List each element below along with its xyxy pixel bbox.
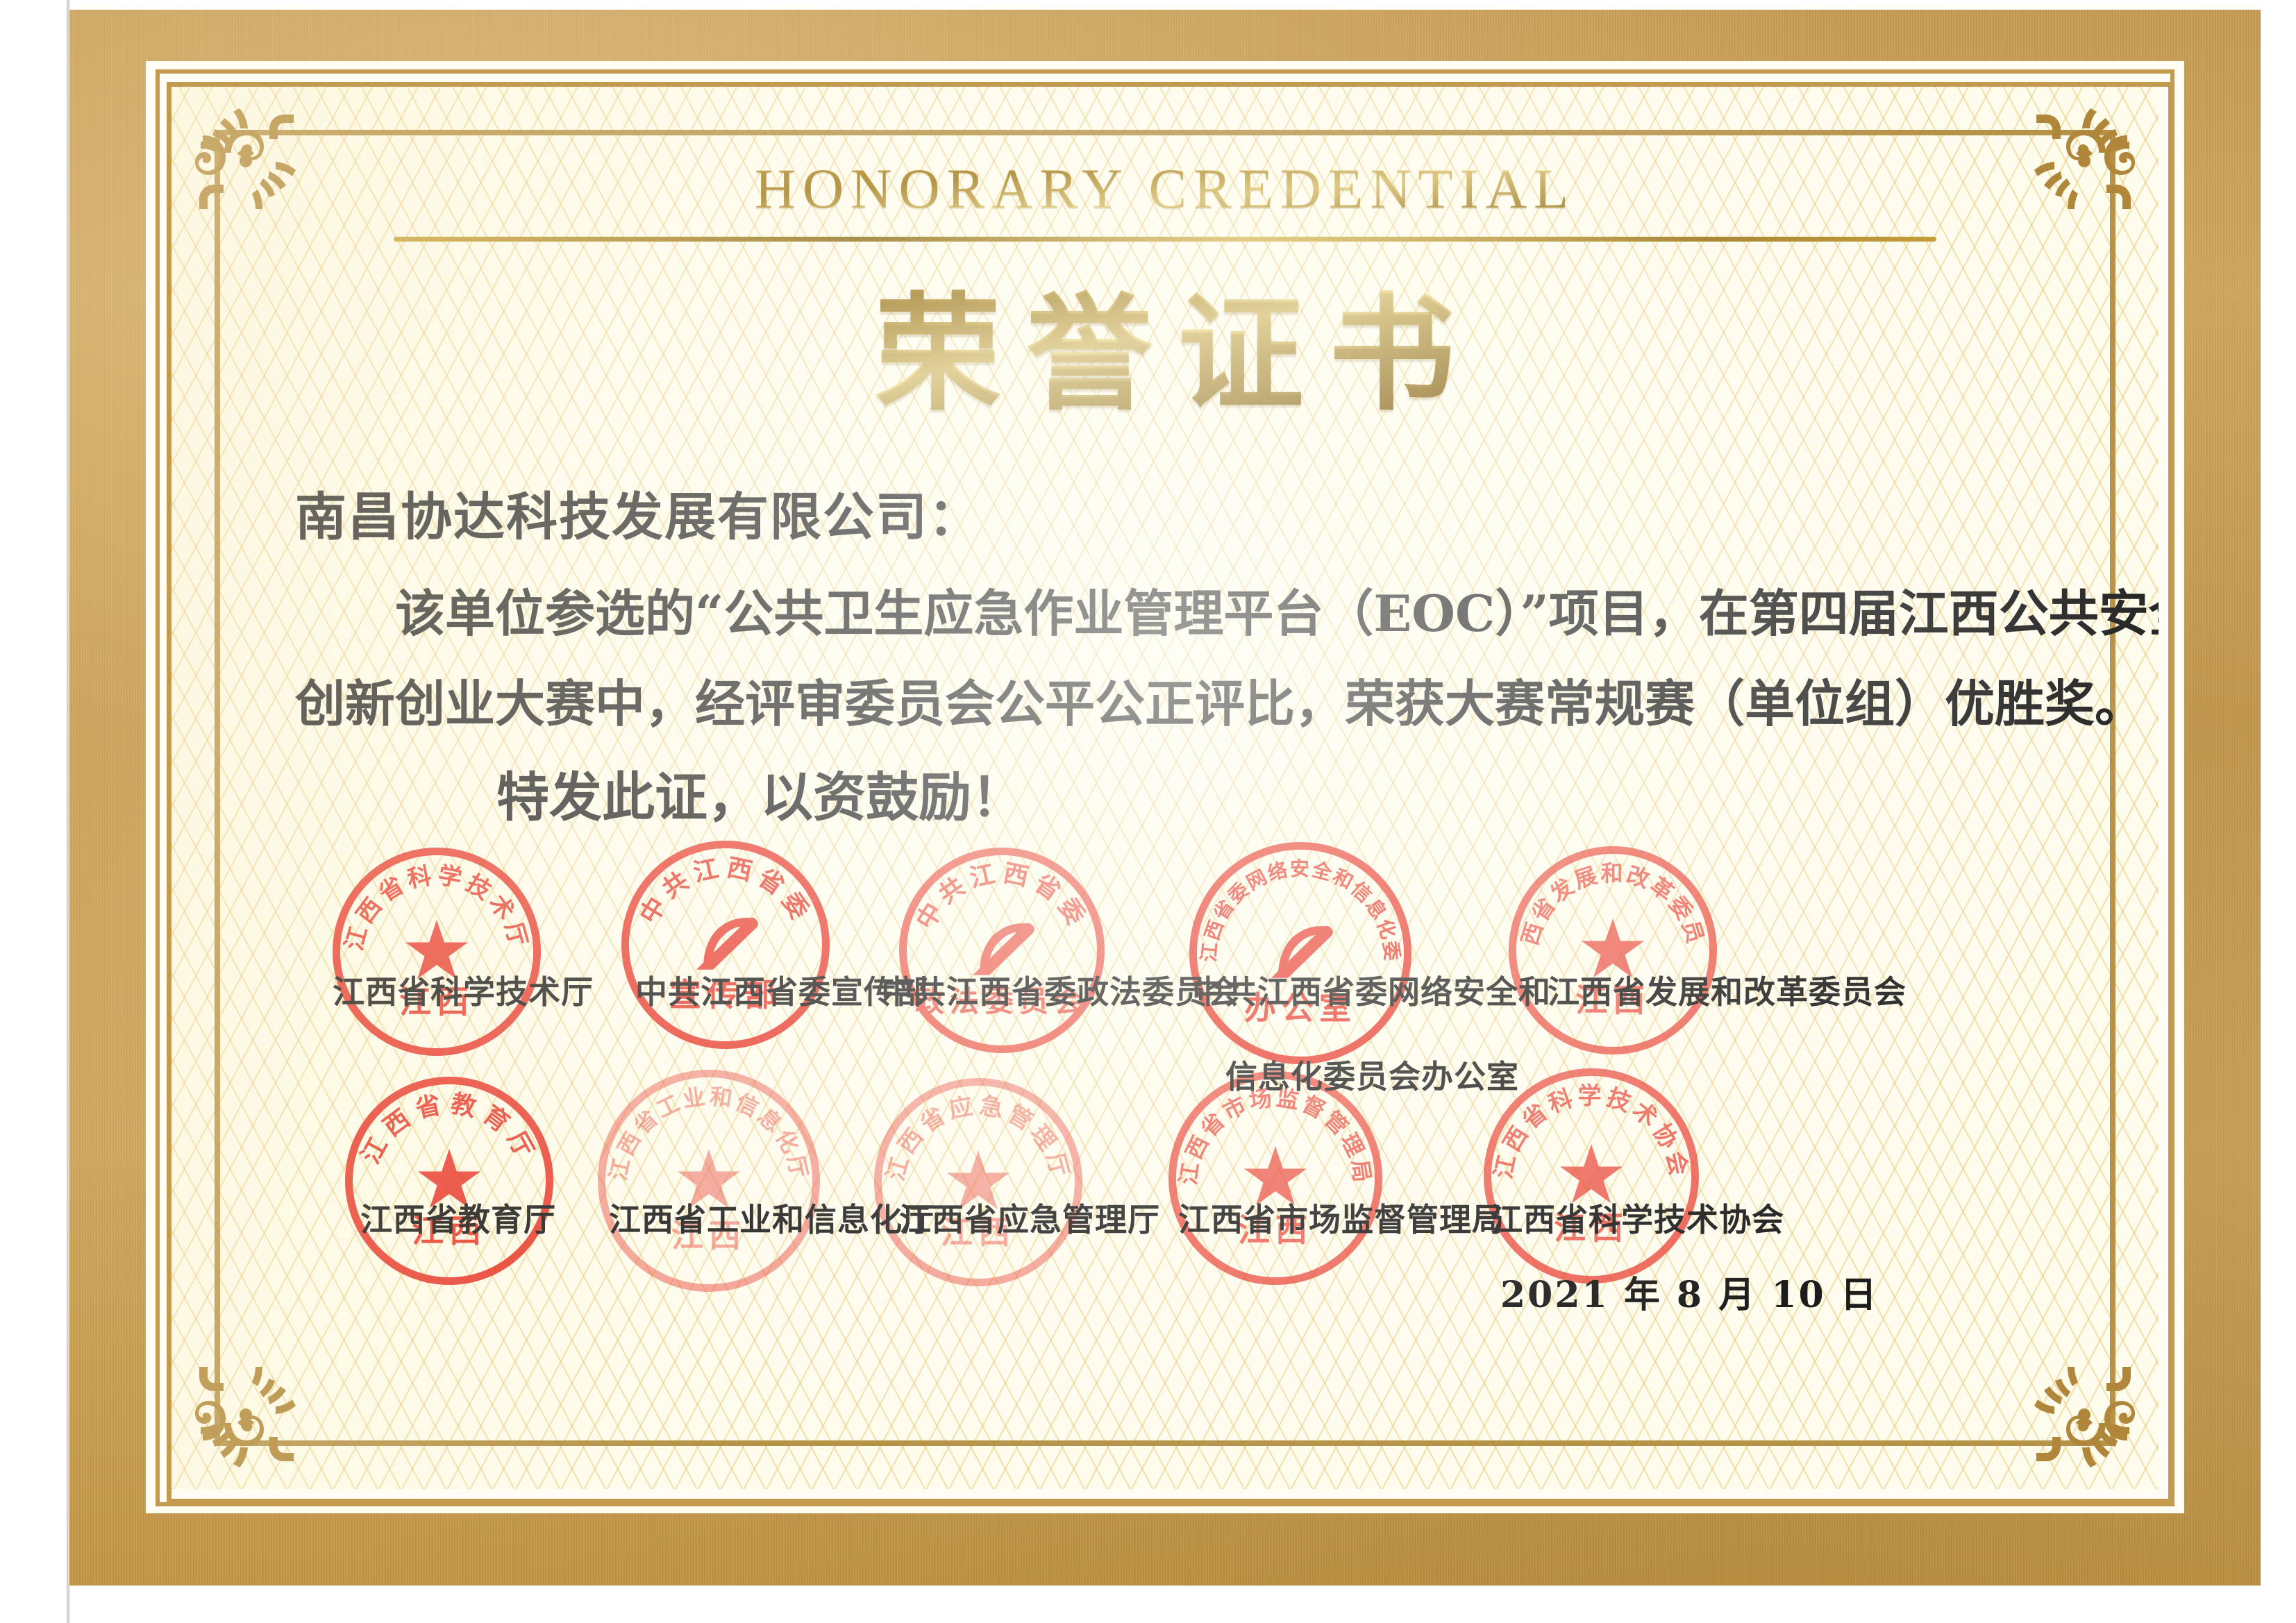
agency-label-fgw: 江西省发展和改革委员会 — [1548, 967, 1907, 1013]
seal-gxt: 江西省工业和信息化厅 江西 — [598, 1070, 820, 1292]
issue-date: 2021 年 8 月 10 日 — [1500, 1265, 1879, 1318]
seal-yjt: 江西省应急管理厅 江西 — [874, 1078, 1082, 1286]
seal-kxj: 江西省科学技术协会 江西 — [1484, 1068, 1699, 1284]
chinese-title: 荣誉证书 — [171, 252, 2159, 435]
agency-label-jyt: 江西省教育厅 — [360, 1195, 556, 1241]
recipient-name: 南昌协达科技发展有限公司： — [295, 476, 981, 550]
seal-kjt: 江西省科学技术厅 江西 — [333, 848, 541, 1056]
closing-text: 特发此证，以资鼓励！ — [295, 755, 1024, 831]
seal-scj: 江西省市场监督管理局 江西 — [1168, 1071, 1382, 1285]
agency-label-wxb: 中共江西省委网络安全和 信息化委员会办公室 — [1192, 967, 1551, 1098]
seal-grid: 江西省科学技术厅 江西 中共江西省委 — [171, 836, 2159, 1364]
seal-jyt: 江西省教育厅 江西 — [345, 1077, 553, 1285]
agency-label-kjt: 江西省科学技术厅 — [333, 967, 594, 1013]
english-title: HONORARY CREDENTIAL — [171, 156, 2159, 221]
body-text-line-2: 创新创业大赛中，经评审委员会公平公正评比，荣获大赛常规赛（单位组）优胜奖。 — [295, 663, 2038, 736]
certificate-paper: HONORARY CREDENTIAL 荣誉证书 南昌协达科技发展有限公司： 该… — [171, 87, 2159, 1489]
certificate-page: HONORARY CREDENTIAL 荣誉证书 南昌协达科技发展有限公司： 该… — [0, 0, 2296, 1623]
title-divider-rule — [394, 237, 1936, 242]
agency-label-scj: 江西省市场监督管理局 — [1178, 1195, 1505, 1241]
certificate-content: HONORARY CREDENTIAL 荣誉证书 南昌协达科技发展有限公司： 该… — [171, 87, 2159, 1489]
body-text-line-1: 该单位参选的“公共卫生应急作业管理平台（EOC）”项目，在第四届江西公共安全 — [295, 573, 2038, 646]
agency-label-wxb-line1: 中共江西省委网络安全和 — [1192, 973, 1551, 1011]
seal-zfw: 中共江西省委 政法委员会 — [899, 848, 1105, 1053]
agency-label-wxb-line2: 信息化委员会办公室 — [1225, 1052, 1551, 1098]
agency-label-zfw: 中共江西省委政法委员会 — [881, 967, 1240, 1013]
seal-xcb: 中共江西省委 宣传部 — [621, 841, 830, 1049]
agency-label-kxj: 江西省科学技术协会 — [1491, 1195, 1784, 1241]
agency-label-yjt: 江西省应急管理厅 — [899, 1195, 1160, 1241]
svg-text:江西省发展和改革委员会: 江西省发展和改革委员会 — [1496, 825, 1709, 948]
agency-label-gxt: 江西省工业和信息化厅 — [609, 1195, 935, 1241]
